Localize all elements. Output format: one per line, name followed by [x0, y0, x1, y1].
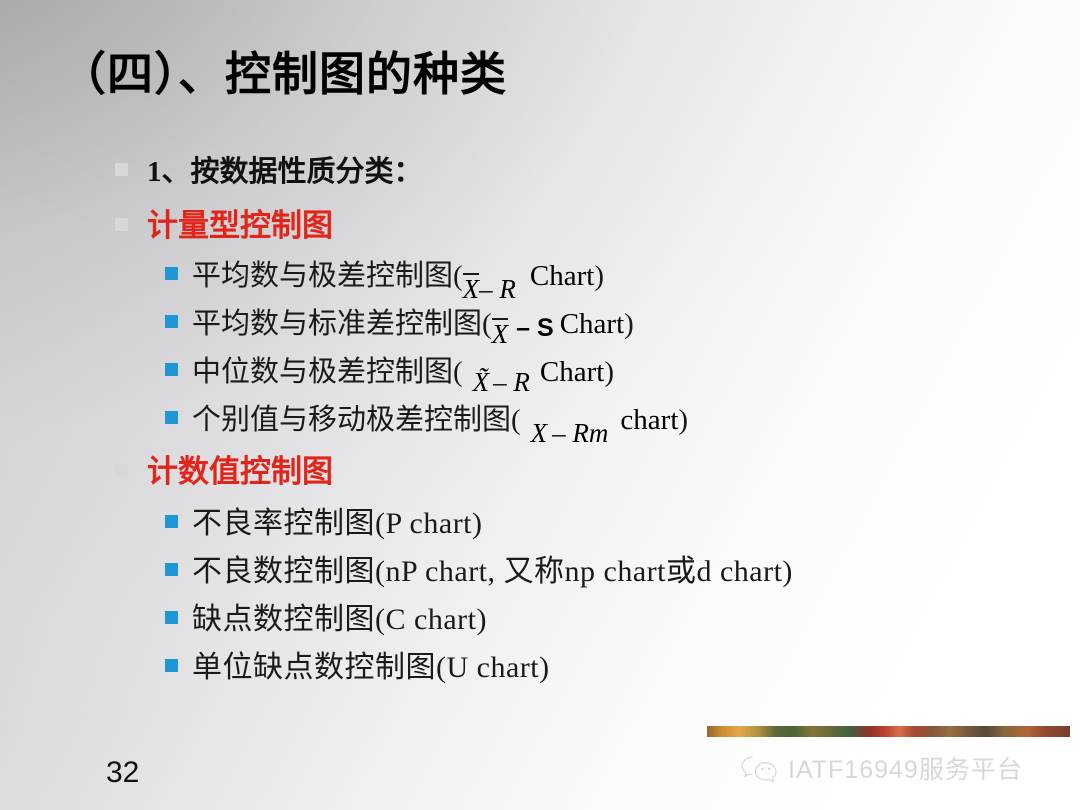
formula-x-overbar: X: [463, 273, 480, 303]
formula-x-tilde: X̃: [473, 367, 490, 397]
watermark: IATF16949服务平台: [740, 750, 1023, 786]
xbar-s-label: 平均数与标准差控制图(: [192, 300, 492, 342]
square-bullet-icon: [115, 163, 128, 176]
page-title: （四）、控制图的种类: [60, 38, 507, 104]
x-rm-formula: X– Rm: [521, 418, 609, 449]
formula-x-overbar: X: [492, 318, 509, 348]
list-item-u-chart: 单位缺点数控制图(U chart): [165, 642, 550, 686]
list-item-attribute-heading: 计数值控制图: [115, 446, 333, 491]
square-bullet-icon: [115, 464, 128, 477]
list-item-x-rm: 个别值与移动极差控制图( X– Rm chart ): [165, 396, 688, 438]
list-item-section-1: 1、按数据性质分类：: [115, 148, 423, 190]
formula-x: X: [531, 418, 548, 448]
xtilde-r-chart-word: Chart: [530, 356, 604, 389]
square-bullet-icon: [165, 315, 178, 328]
square-bullet-icon: [165, 563, 178, 576]
p-chart-label: 不良率控制图(P chart): [192, 498, 483, 542]
x-rm-chart-word: chart: [608, 404, 678, 437]
list-item-c-chart: 缺点数控制图(C chart): [165, 594, 487, 638]
xtilde-r-label: 中位数与极差控制图(: [192, 348, 463, 390]
square-bullet-icon: [165, 267, 178, 280]
formula-dash: –: [516, 314, 530, 342]
variable-heading: 计量型控制图: [147, 200, 333, 245]
formula-s: S: [537, 314, 554, 342]
square-bullet-icon: [115, 218, 128, 231]
list-item-p-chart: 不良率控制图(P chart): [165, 498, 483, 542]
list-item-xbar-s: 平均数与标准差控制图( X – S Chart ): [165, 300, 634, 342]
square-bullet-icon: [165, 515, 178, 528]
decorative-color-bar: [705, 724, 1072, 739]
square-bullet-icon: [165, 659, 178, 672]
xtilde-r-formula: X̃– R: [463, 367, 530, 398]
x-rm-label: 个别值与移动极差控制图(: [192, 396, 521, 438]
xbar-s-close-paren: ): [624, 308, 634, 341]
c-chart-label: 缺点数控制图(C chart): [192, 594, 487, 638]
watermark-text: IATF16949服务平台: [788, 750, 1023, 786]
square-bullet-icon: [165, 363, 178, 376]
xbar-s-chart-word: Chart: [554, 308, 624, 341]
xbar-s-formula-dash-s: – S: [508, 314, 554, 343]
xbar-r-label: 平均数与极差控制图(: [192, 252, 463, 294]
list-item-xbar-r: 平均数与极差控制图( X– R Chart ): [165, 252, 604, 294]
page-number: 32: [106, 756, 139, 790]
formula-rest: – Rm: [547, 418, 608, 448]
square-bullet-icon: [165, 411, 178, 424]
attribute-heading: 计数值控制图: [147, 446, 333, 491]
xbar-r-chart-word: Chart: [516, 260, 594, 293]
formula-rest: – R: [489, 367, 530, 397]
xbar-s-formula: X: [492, 318, 509, 350]
section-1-label: 1、按数据性质分类：: [147, 148, 423, 190]
np-chart-label: 不良数控制图(nP chart, 又称np chart或d chart): [192, 546, 793, 590]
xbar-r-close-paren: ): [594, 260, 604, 293]
square-bullet-icon: [165, 611, 178, 624]
x-rm-close-paren: ): [678, 404, 688, 437]
list-item-xtilde-r: 中位数与极差控制图( X̃– R Chart ): [165, 348, 614, 390]
u-chart-label: 单位缺点数控制图(U chart): [192, 642, 550, 686]
list-item-np-chart: 不良数控制图(nP chart, 又称np chart或d chart): [165, 546, 793, 590]
slide-canvas: （四）、控制图的种类 1、按数据性质分类： 计量型控制图 平均数与极差控制图( …: [0, 0, 1080, 810]
xtilde-r-close-paren: ): [604, 356, 614, 389]
wechat-icon: [740, 753, 780, 783]
list-item-variable-heading: 计量型控制图: [115, 200, 333, 245]
